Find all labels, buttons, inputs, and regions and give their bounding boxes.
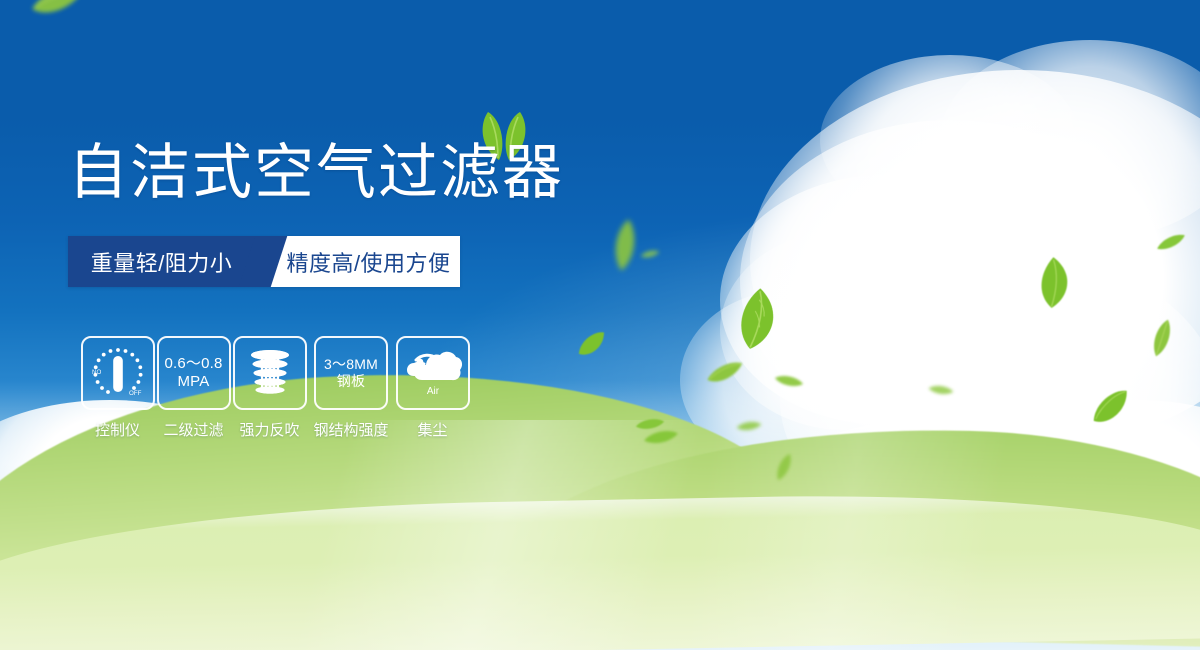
cloud-air-icon: Air [400,342,466,404]
air-label: Air [426,386,439,397]
steel-thickness: 3～8MM [324,356,378,373]
dial-on-label: NO [92,369,101,376]
control-dial-icon: NO OFF [87,342,149,404]
feature-label: 强力反吹 [239,419,299,440]
feature-icon-box: NO OFF [81,336,155,410]
pressure-value: 0.6～0.8 [164,355,222,373]
subtitle-left-panel: 重量轻/阻力小 [68,236,263,287]
feature-item-back-blow[interactable]: 强力反吹 [232,336,307,440]
feature-item-controller[interactable]: NO OFF 控制仪 [80,336,155,440]
feature-item-two-stage-filter[interactable]: 0.6～0.8 MPA 二级过滤 [156,336,231,440]
subtitle-bar: 重量轻/阻力小 精度高/使用方便 [68,236,460,287]
steel-plate-text-icon: 3～8MM 钢板 [324,356,378,390]
feature-label: 二级过滤 [163,419,223,440]
pressure-unit: MPA [164,373,222,391]
feature-label: 控制仪 [95,419,140,440]
subtitle-right-panel: 精度高/使用方便 [263,236,460,287]
feature-list: NO OFF 控制仪 0.6～0.8 MPA 二级过滤 [80,336,470,440]
feature-icon-box: 0.6～0.8 MPA [157,336,231,410]
pressure-text-icon: 0.6～0.8 MPA [164,355,222,392]
banner-content: 自洁式空气过滤器 重量轻/阻力小 精度高/使用方便 [0,0,1200,650]
hero-banner: 自洁式空气过滤器 重量轻/阻力小 精度高/使用方便 [0,0,1200,650]
filter-cartridge-icon [239,342,301,404]
feature-item-dust-collection[interactable]: Air 集尘 [395,336,470,440]
feature-icon-box: 3～8MM 钢板 [314,336,388,410]
feature-label: 钢结构强度 [313,419,388,440]
steel-material: 钢板 [324,373,378,390]
feature-icon-box: Air [396,336,470,410]
feature-item-steel-strength[interactable]: 3～8MM 钢板 钢结构强度 [308,336,394,440]
feature-icon-box [233,336,307,410]
subtitle-left-text: 重量轻/阻力小 [91,246,233,278]
page-title: 自洁式空气过滤器 [68,143,564,203]
dial-off-label: OFF [129,390,142,397]
feature-label: 集尘 [417,419,447,440]
subtitle-right-text: 精度高/使用方便 [286,246,450,278]
